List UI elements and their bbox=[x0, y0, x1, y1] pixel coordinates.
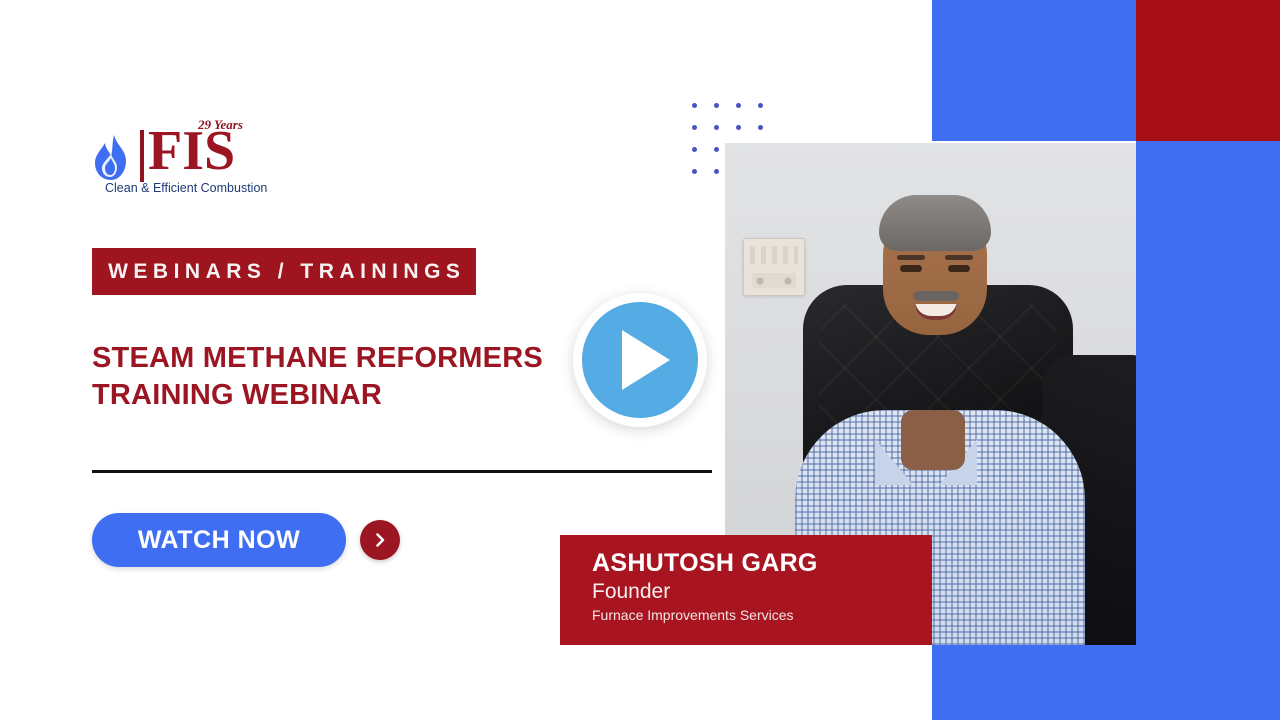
speaker-neck bbox=[901, 410, 965, 470]
eyebrow-left bbox=[897, 255, 925, 260]
speaker-head bbox=[883, 203, 987, 335]
speaker-name-card: ASHUTOSH GARG Founder Furnace Improvemen… bbox=[560, 535, 932, 645]
mouth-smile bbox=[915, 304, 957, 320]
eye-left bbox=[900, 265, 922, 272]
speaker-role: Founder bbox=[592, 578, 932, 606]
logo-divider-bar bbox=[140, 130, 144, 182]
company-logo: FIS 29 Years Clean & Efficient Combustio… bbox=[92, 118, 262, 200]
speaker-organization: Furnace Improvements Services bbox=[592, 606, 932, 625]
page-title: STEAM METHANE REFORMERS TRAINING WEBINAR bbox=[92, 340, 612, 414]
decor-block-blue-right bbox=[1136, 141, 1280, 645]
promo-slide: FIS 29 Years Clean & Efficient Combustio… bbox=[0, 0, 1280, 720]
play-icon bbox=[582, 302, 698, 418]
decor-block-blue-bottom bbox=[932, 645, 1280, 720]
chevron-right-icon bbox=[372, 532, 388, 548]
horizontal-divider bbox=[92, 470, 712, 473]
decor-block-blue-top bbox=[932, 0, 1136, 141]
decor-block-red-top bbox=[1136, 0, 1280, 141]
play-button[interactable] bbox=[573, 293, 707, 427]
category-banner: WEBINARS / TRAININGS bbox=[92, 248, 476, 295]
speaker-hair bbox=[879, 195, 991, 251]
play-triangle-icon bbox=[622, 330, 670, 390]
next-arrow-button[interactable] bbox=[360, 520, 400, 560]
category-banner-label: WEBINARS / TRAININGS bbox=[103, 260, 466, 284]
mustache bbox=[913, 291, 959, 301]
wall-switch-plate bbox=[743, 238, 805, 296]
logo-years-badge: 29 Years bbox=[198, 117, 243, 133]
speaker-name: ASHUTOSH GARG bbox=[592, 549, 932, 578]
watch-now-button[interactable]: WATCH NOW bbox=[92, 513, 346, 567]
page-title-line2: TRAINING WEBINAR bbox=[92, 377, 612, 414]
eye-right bbox=[948, 265, 970, 272]
flame-icon bbox=[92, 134, 132, 182]
logo-tagline: Clean & Efficient Combustion bbox=[105, 181, 267, 195]
page-title-line1: STEAM METHANE REFORMERS bbox=[92, 340, 612, 377]
eyebrow-right bbox=[945, 255, 973, 260]
